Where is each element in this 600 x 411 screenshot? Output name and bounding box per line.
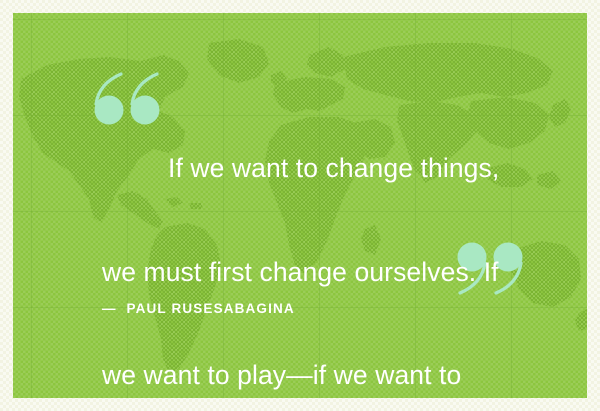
quote-line: we must first change ourselves. If [102, 255, 532, 290]
quote-line: we want to play—if we want to [102, 358, 532, 393]
quote-attribution: — PAUL RUSESABAGINA [102, 301, 295, 316]
quote-line: If we want to change things, [102, 151, 532, 186]
quote-text: If we want to change things, we must fir… [102, 82, 532, 411]
quote-card: If we want to change things, we must fir… [0, 0, 600, 411]
